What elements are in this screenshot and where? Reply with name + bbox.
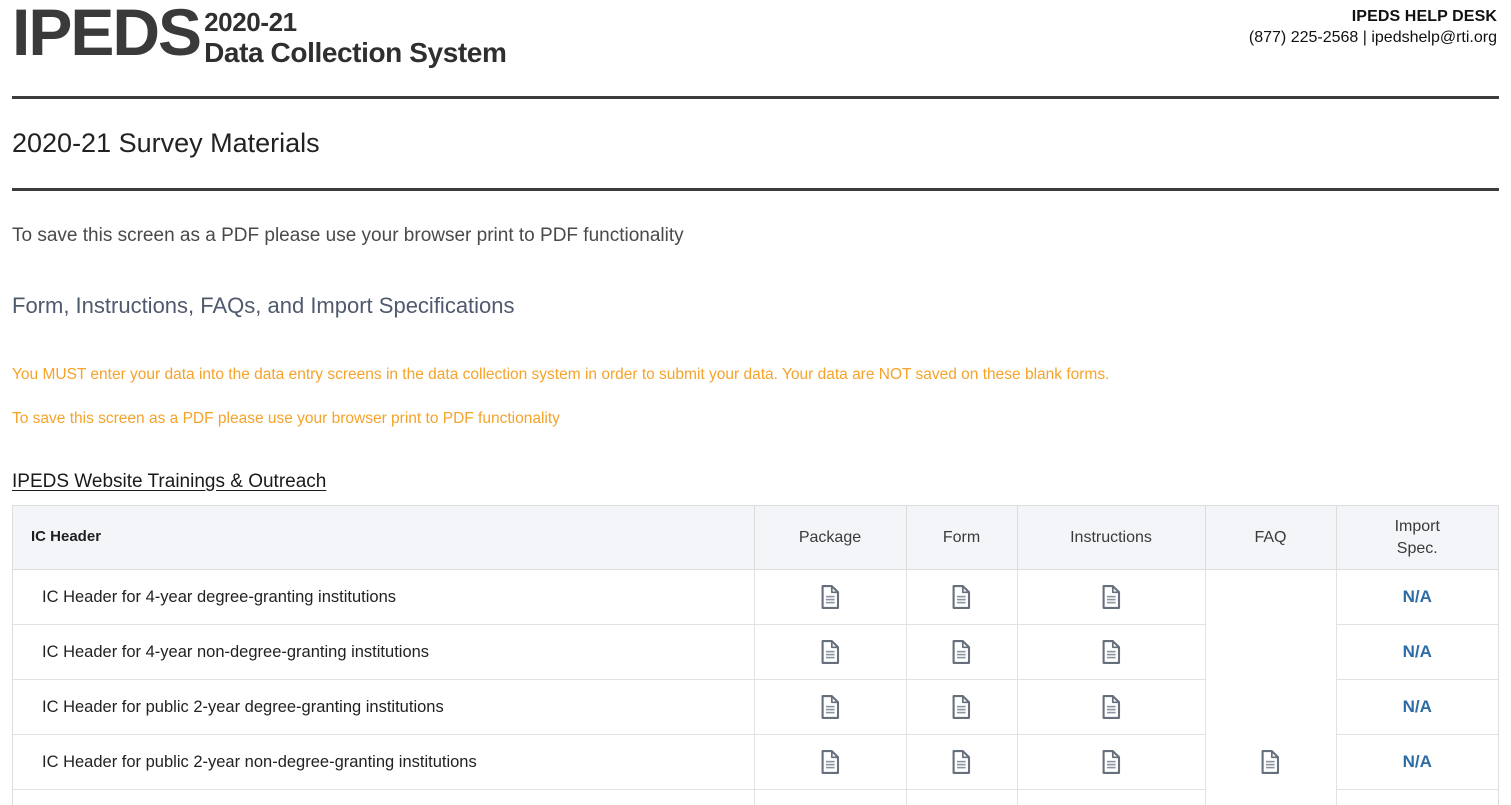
status-badge: N/A	[1403, 642, 1432, 661]
instructions-cell[interactable]	[1017, 680, 1205, 735]
document-icon[interactable]	[821, 640, 840, 664]
ipeds-trainings-outreach-link[interactable]: IPEDS Website Trainings & Outreach	[12, 471, 326, 493]
brand-ipeds-text: IPEDS	[12, 2, 200, 63]
survey-materials-page: IPEDS 2020-21 Data Collection System IPE…	[0, 0, 1511, 805]
form-cell[interactable]	[906, 625, 1017, 680]
column-header-package: Package	[754, 506, 906, 570]
import-spec-cell: N/A	[1336, 735, 1498, 790]
brand-system-name: Data Collection System	[204, 37, 506, 68]
document-icon[interactable]	[821, 750, 840, 774]
survey-materials-table: IC Header Package Form Instructions FAQ …	[13, 506, 1498, 805]
divider-top	[12, 96, 1499, 99]
column-header-instructions: Instructions	[1017, 506, 1205, 570]
column-header-import-spec-line1: Import	[1395, 518, 1440, 535]
warning-save-as-pdf: To save this screen as a PDF please use …	[0, 402, 1511, 430]
help-desk-title: IPEDS HELP DESK	[1249, 7, 1497, 27]
instructions-cell[interactable]	[1017, 790, 1205, 805]
import-spec-cell: N/A	[1336, 790, 1498, 805]
help-desk-contact[interactable]: (877) 225-2568 | ipedshelp@rti.org	[1249, 27, 1497, 49]
page-title: 2020-21 Survey Materials	[0, 117, 1511, 170]
column-header-ic-header: IC Header	[13, 506, 754, 570]
status-badge: N/A	[1403, 697, 1432, 716]
survey-materials-table-wrapper: IC Header Package Form Instructions FAQ …	[12, 505, 1499, 805]
document-icon[interactable]	[1102, 640, 1121, 664]
document-icon[interactable]	[1102, 585, 1121, 609]
column-header-faq: FAQ	[1205, 506, 1336, 570]
document-icon[interactable]	[952, 695, 971, 719]
package-cell[interactable]	[754, 790, 906, 805]
row-label: IC Header for public 2-year non-degree-g…	[13, 735, 754, 790]
form-cell[interactable]	[906, 570, 1017, 625]
document-icon[interactable]	[952, 640, 971, 664]
document-icon[interactable]	[952, 750, 971, 774]
warning-must-enter-data: You MUST enter your data into the data e…	[0, 338, 1511, 386]
table-row: IC Header for 4-year degree-granting ins…	[13, 570, 1498, 625]
package-cell[interactable]	[754, 570, 906, 625]
status-badge: N/A	[1403, 752, 1432, 771]
brand-year: 2020-21	[204, 8, 506, 37]
form-cell[interactable]	[906, 735, 1017, 790]
document-icon[interactable]	[1261, 750, 1280, 774]
divider-under-title	[12, 188, 1499, 191]
form-cell[interactable]	[906, 790, 1017, 805]
row-label: IC Header for private 2-year degree-gran…	[13, 790, 754, 805]
form-cell[interactable]	[906, 680, 1017, 735]
column-header-import-spec-line2: Spec.	[1397, 540, 1438, 557]
survey-materials-table-body: IC Header for 4-year degree-granting ins…	[13, 570, 1498, 805]
package-cell[interactable]	[754, 625, 906, 680]
row-label: IC Header for 4-year non-degree-granting…	[13, 625, 754, 680]
import-spec-cell: N/A	[1336, 570, 1498, 625]
row-label: IC Header for 4-year degree-granting ins…	[13, 570, 754, 625]
instructions-cell[interactable]	[1017, 625, 1205, 680]
document-icon[interactable]	[1102, 695, 1121, 719]
column-header-form: Form	[906, 506, 1017, 570]
lead-text: To save this screen as a PDF please use …	[0, 210, 1511, 249]
help-desk-block: IPEDS HELP DESK (877) 225-2568 | ipedshe…	[1249, 7, 1497, 49]
faq-cell[interactable]	[1205, 570, 1336, 805]
document-icon[interactable]	[1102, 750, 1121, 774]
table-header-row: IC Header Package Form Instructions FAQ …	[13, 506, 1498, 570]
import-spec-cell: N/A	[1336, 625, 1498, 680]
ipeds-logo: IPEDS 2020-21 Data Collection System	[12, 2, 506, 68]
package-cell[interactable]	[754, 680, 906, 735]
masthead: IPEDS 2020-21 Data Collection System IPE…	[0, 0, 1511, 96]
instructions-cell[interactable]	[1017, 570, 1205, 625]
status-badge: N/A	[1403, 587, 1432, 606]
row-label: IC Header for public 2-year degree-grant…	[13, 680, 754, 735]
document-icon[interactable]	[952, 585, 971, 609]
document-icon[interactable]	[821, 695, 840, 719]
instructions-cell[interactable]	[1017, 735, 1205, 790]
package-cell[interactable]	[754, 735, 906, 790]
column-header-import-spec: Import Spec.	[1336, 506, 1498, 570]
brand-subtitle: 2020-21 Data Collection System	[204, 8, 506, 68]
document-icon[interactable]	[821, 585, 840, 609]
import-spec-cell: N/A	[1336, 680, 1498, 735]
section-heading: Form, Instructions, FAQs, and Import Spe…	[0, 268, 1511, 321]
